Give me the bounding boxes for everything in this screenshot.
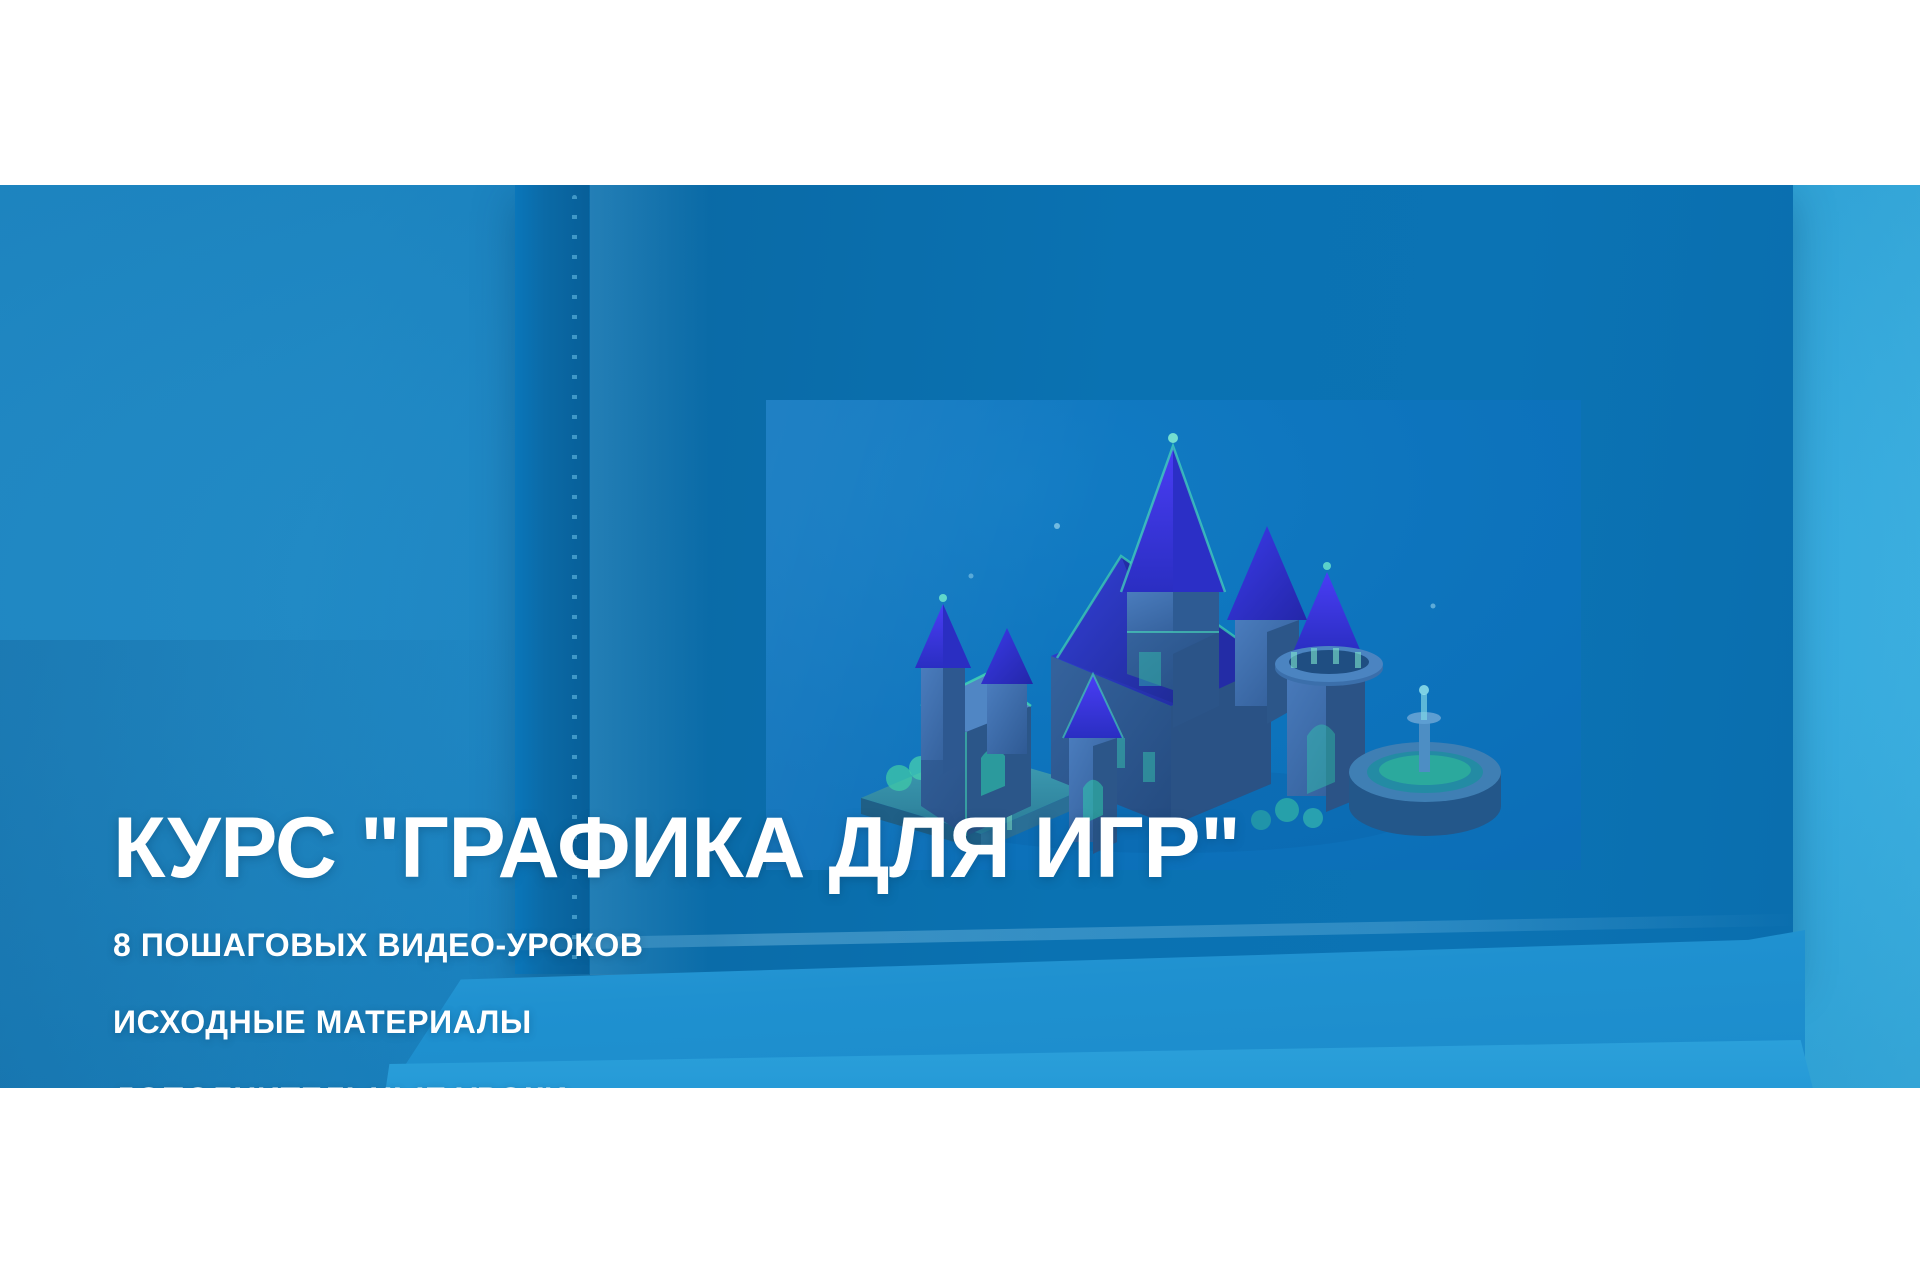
feature-item-source-materials: ИСХОДНЫЕ МАТЕРИАЛЫ [113,1006,1313,1038]
banner-feature-list: 8 ПОШАГОВЫХ ВИДЕО-УРОКОВ ИСХОДНЫЕ МАТЕРИ… [113,929,1313,1088]
course-promo-banner: КУРС "ГРАФИКА ДЛЯ ИГР" 8 ПОШАГОВЫХ ВИДЕО… [0,185,1920,1088]
second-turret [981,628,1033,754]
banner-headline: КУРС "ГРАФИКА ДЛЯ ИГР" [113,805,1313,891]
feature-item-extra-lessons: ДОПОЛНИТЕЛЬНЫЕ УРОКИ [113,1083,1313,1088]
banner-copy-block: КУРС "ГРАФИКА ДЛЯ ИГР" 8 ПОШАГОВЫХ ВИДЕО… [113,805,1313,1088]
feature-item-video-lessons: 8 ПОШАГОВЫХ ВИДЕО-УРОКОВ [113,929,1313,961]
promo-banner-page: КУРС "ГРАФИКА ДЛЯ ИГР" 8 ПОШАГОВЫХ ВИДЕО… [0,0,1920,1280]
fountain [1349,685,1501,836]
left-turret [915,594,971,774]
central-spire [1121,433,1225,646]
